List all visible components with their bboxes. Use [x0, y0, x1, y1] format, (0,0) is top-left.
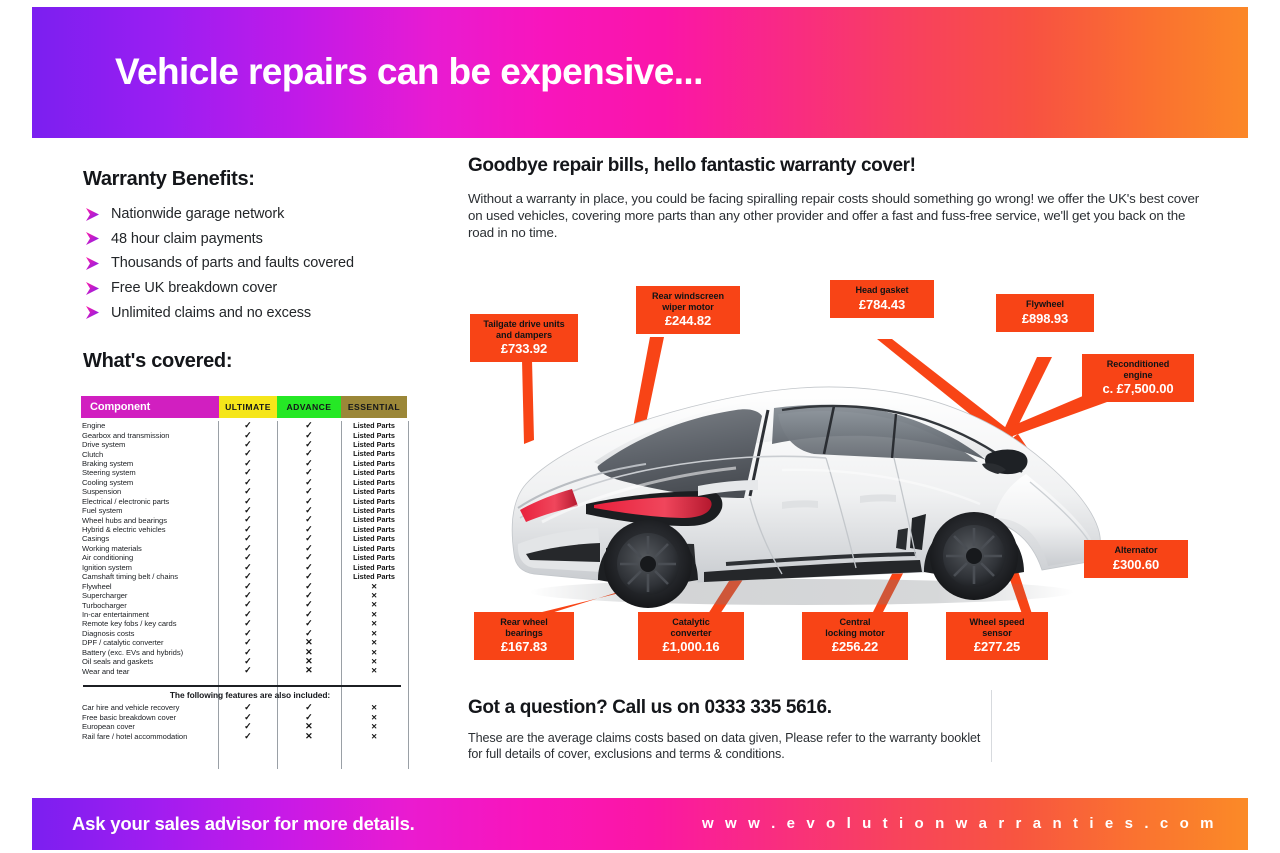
cell-component: Turbocharger	[81, 601, 219, 610]
table-row: Rail fare / hotel accommodation✓✕✕	[81, 731, 419, 740]
poster-page: Vehicle repairs can be expensive... Warr…	[0, 0, 1280, 853]
cell-essential: Listed Parts	[341, 422, 407, 429]
cell-component: Supercharger	[81, 591, 219, 600]
cell-advance: ✕	[277, 732, 341, 741]
cell-essential: ✕	[341, 639, 407, 646]
cell-advance: ✕	[277, 638, 341, 647]
chevron-right-icon	[84, 281, 106, 296]
cell-advance: ✓	[277, 421, 341, 430]
column-header-component: Component	[81, 396, 219, 418]
whats-covered-heading: What's covered:	[83, 350, 232, 373]
cell-component: Camshaft timing belt / chains	[81, 572, 219, 581]
callout-tailgate-drive-units: Tailgate drive units and dampers £733.92	[470, 314, 578, 362]
cell-ultimate: ✓	[219, 572, 277, 581]
page-title: Vehicle repairs can be expensive...	[115, 51, 703, 93]
cell-essential: ✕	[341, 592, 407, 599]
cell-advance: ✕	[277, 722, 341, 731]
cell-ultimate: ✓	[219, 421, 277, 430]
cell-component: Clutch	[81, 450, 219, 459]
coverage-rows: Engine✓✓Listed PartsGearbox and transmis…	[81, 421, 419, 676]
cell-essential: ✕	[341, 704, 407, 711]
benefit-item: Unlimited claims and no excess	[84, 300, 444, 325]
callout-price: £277.25	[954, 639, 1040, 654]
callout-price: £1,000.16	[646, 639, 736, 654]
right-paragraph: Without a warranty in place, you could b…	[468, 190, 1208, 242]
cell-ultimate: ✓	[219, 638, 277, 647]
chevron-right-icon	[84, 256, 106, 271]
callout-label: Wheel speed sensor	[954, 617, 1040, 638]
cell-component: Air conditioning	[81, 553, 219, 562]
cell-ultimate: ✓	[219, 666, 277, 675]
benefit-label: Unlimited claims and no excess	[111, 305, 311, 321]
cell-component: Oil seals and gaskets	[81, 657, 219, 666]
callout-price: £300.60	[1092, 557, 1180, 572]
cell-essential: ✕	[341, 667, 407, 674]
callout-alternator: Alternator £300.60	[1084, 540, 1188, 578]
cell-essential: Listed Parts	[341, 573, 407, 580]
cell-essential: Listed Parts	[341, 460, 407, 467]
cell-component: Free basic breakdown cover	[81, 713, 219, 722]
benefit-item: 48 hour claim payments	[84, 227, 444, 252]
cell-component: DPF / catalytic converter	[81, 638, 219, 647]
cell-component: Rail fare / hotel accommodation	[81, 732, 219, 741]
chevron-right-icon	[84, 305, 106, 320]
cell-component: Cooling system	[81, 478, 219, 487]
callout-head-gasket: Head gasket £784.43	[830, 280, 934, 318]
cell-component: Wheel hubs and bearings	[81, 516, 219, 525]
benefit-label: Thousands of parts and faults covered	[111, 255, 354, 271]
cell-essential: ✕	[341, 723, 407, 730]
cell-essential: Listed Parts	[341, 498, 407, 505]
coverage-table: Component ULTIMATE ADVANCE ESSENTIAL Eng…	[81, 396, 419, 769]
callout-rear-wheel-bearings: Rear wheel bearings £167.83	[474, 612, 574, 660]
cell-essential: ✕	[341, 658, 407, 665]
benefit-item: Thousands of parts and faults covered	[84, 251, 444, 276]
vertical-rule	[991, 690, 992, 762]
cell-essential: ✕	[341, 583, 407, 590]
cell-component: Flywheel	[81, 582, 219, 591]
coverage-table-header: Component ULTIMATE ADVANCE ESSENTIAL	[81, 396, 419, 418]
callout-price: £898.93	[1004, 311, 1086, 326]
coverage-table-body: Engine✓✓Listed PartsGearbox and transmis…	[81, 421, 419, 769]
callout-price: £256.22	[810, 639, 900, 654]
car-illustration	[482, 358, 1122, 618]
callout-rear-windscreen-wiper-motor: Rear windscreen wiper motor £244.82	[636, 286, 740, 334]
callout-central-locking-motor: Central locking motor £256.22	[802, 612, 908, 660]
cell-component: Hybrid & electric vehicles	[81, 525, 219, 534]
cell-essential: ✕	[341, 611, 407, 618]
cell-essential: Listed Parts	[341, 564, 407, 571]
footer-cta-text: Ask your sales advisor for more details.	[72, 813, 415, 835]
callout-label: Head gasket	[838, 285, 926, 296]
column-header-essential: ESSENTIAL	[341, 396, 407, 418]
callout-price: £784.43	[838, 297, 926, 312]
callout-price: c. £7,500.00	[1090, 381, 1186, 396]
cell-component: Braking system	[81, 459, 219, 468]
callout-wheel-speed-sensor: Wheel speed sensor £277.25	[946, 612, 1048, 660]
benefit-label: Nationwide garage network	[111, 206, 284, 222]
cell-essential: ✕	[341, 630, 407, 637]
cell-component: Battery (exc. EVs and hybrids)	[81, 648, 219, 657]
cell-component: Engine	[81, 421, 219, 430]
cell-essential: ✕	[341, 714, 407, 721]
also-included-rows: Car hire and vehicle recovery✓✓✕Free bas…	[81, 703, 419, 741]
cell-ultimate: ✓	[219, 722, 277, 731]
table-divider	[83, 685, 401, 686]
cell-essential: ✕	[341, 649, 407, 656]
right-heading: Goodbye repair bills, hello fantastic wa…	[468, 155, 916, 177]
cell-essential: Listed Parts	[341, 526, 407, 533]
cell-advance: ✓	[277, 572, 341, 581]
callout-price: £244.82	[644, 313, 732, 328]
cell-component: Working materials	[81, 544, 219, 553]
cell-component: Casings	[81, 534, 219, 543]
cell-component: European cover	[81, 722, 219, 731]
cell-essential: Listed Parts	[341, 554, 407, 561]
cell-component: Wear and tear	[81, 667, 219, 676]
cell-essential: Listed Parts	[341, 441, 407, 448]
table-row: Wear and tear✓✕✕	[81, 666, 419, 675]
benefit-label: Free UK breakdown cover	[111, 280, 277, 296]
callout-catalytic-converter: Catalytic converter £1,000.16	[638, 612, 744, 660]
cell-essential: Listed Parts	[341, 507, 407, 514]
cell-essential: Listed Parts	[341, 545, 407, 552]
cell-component: Fuel system	[81, 506, 219, 515]
also-included-heading: The following features are also included…	[81, 690, 419, 700]
cell-component: Steering system	[81, 468, 219, 477]
cell-essential: Listed Parts	[341, 535, 407, 542]
callout-label: Flywheel	[1004, 299, 1086, 310]
cell-essential: Listed Parts	[341, 450, 407, 457]
cell-advance: ✕	[277, 666, 341, 675]
cell-essential: ✕	[341, 733, 407, 740]
callout-label: Catalytic converter	[646, 617, 736, 638]
callout-reconditioned-engine: Reconditioned engine c. £7,500.00	[1082, 354, 1194, 402]
benefit-label: 48 hour claim payments	[111, 231, 263, 247]
question-heading: Got a question? Call us on 0333 335 5616…	[468, 697, 832, 719]
cell-essential: Listed Parts	[341, 488, 407, 495]
callout-flywheel: Flywheel £898.93	[996, 294, 1094, 332]
cell-ultimate: ✓	[219, 487, 277, 496]
cell-component: Diagnosis costs	[81, 629, 219, 638]
benefit-item: Nationwide garage network	[84, 202, 444, 227]
cell-advance: ✓	[277, 487, 341, 496]
cell-component: In-car entertainment	[81, 610, 219, 619]
cell-essential: Listed Parts	[341, 479, 407, 486]
cell-essential: Listed Parts	[341, 432, 407, 439]
chevron-right-icon	[84, 207, 106, 222]
header-banner: Vehicle repairs can be expensive...	[32, 7, 1248, 138]
cell-component: Car hire and vehicle recovery	[81, 703, 219, 712]
cell-component: Suspension	[81, 487, 219, 496]
cell-essential: Listed Parts	[341, 469, 407, 476]
question-disclaimer: These are the average claims costs based…	[468, 730, 998, 762]
footer-banner: Ask your sales advisor for more details.…	[32, 798, 1248, 850]
cell-component: Drive system	[81, 440, 219, 449]
cell-component: Gearbox and transmission	[81, 431, 219, 440]
footer-website[interactable]: w w w . e v o l u t i o n w a r r a n t …	[702, 815, 1217, 832]
cell-essential: ✕	[341, 620, 407, 627]
chevron-right-icon	[84, 231, 106, 246]
callout-label: Reconditioned engine	[1090, 359, 1186, 380]
cell-ultimate: ✓	[219, 732, 277, 741]
column-header-ultimate: ULTIMATE	[219, 396, 277, 418]
callout-label: Rear windscreen wiper motor	[644, 291, 732, 312]
cell-component: Ignition system	[81, 563, 219, 572]
benefit-item: Free UK breakdown cover	[84, 276, 444, 301]
callout-price: £167.83	[482, 639, 566, 654]
car-diagram: Tailgate drive units and dampers £733.92…	[462, 262, 1222, 682]
column-header-advance: ADVANCE	[277, 396, 341, 418]
warranty-benefits-list: Nationwide garage network48 hour claim p…	[84, 202, 444, 325]
callout-label: Rear wheel bearings	[482, 617, 566, 638]
cell-component: Electrical / electronic parts	[81, 497, 219, 506]
callout-price: £733.92	[478, 341, 570, 356]
callout-label: Tailgate drive units and dampers	[478, 319, 570, 340]
warranty-benefits-heading: Warranty Benefits:	[83, 168, 255, 191]
callout-label: Alternator	[1092, 545, 1180, 556]
cell-component: Remote key fobs / key cards	[81, 619, 219, 628]
callout-label: Central locking motor	[810, 617, 900, 638]
cell-essential: Listed Parts	[341, 516, 407, 523]
cell-essential: ✕	[341, 601, 407, 608]
